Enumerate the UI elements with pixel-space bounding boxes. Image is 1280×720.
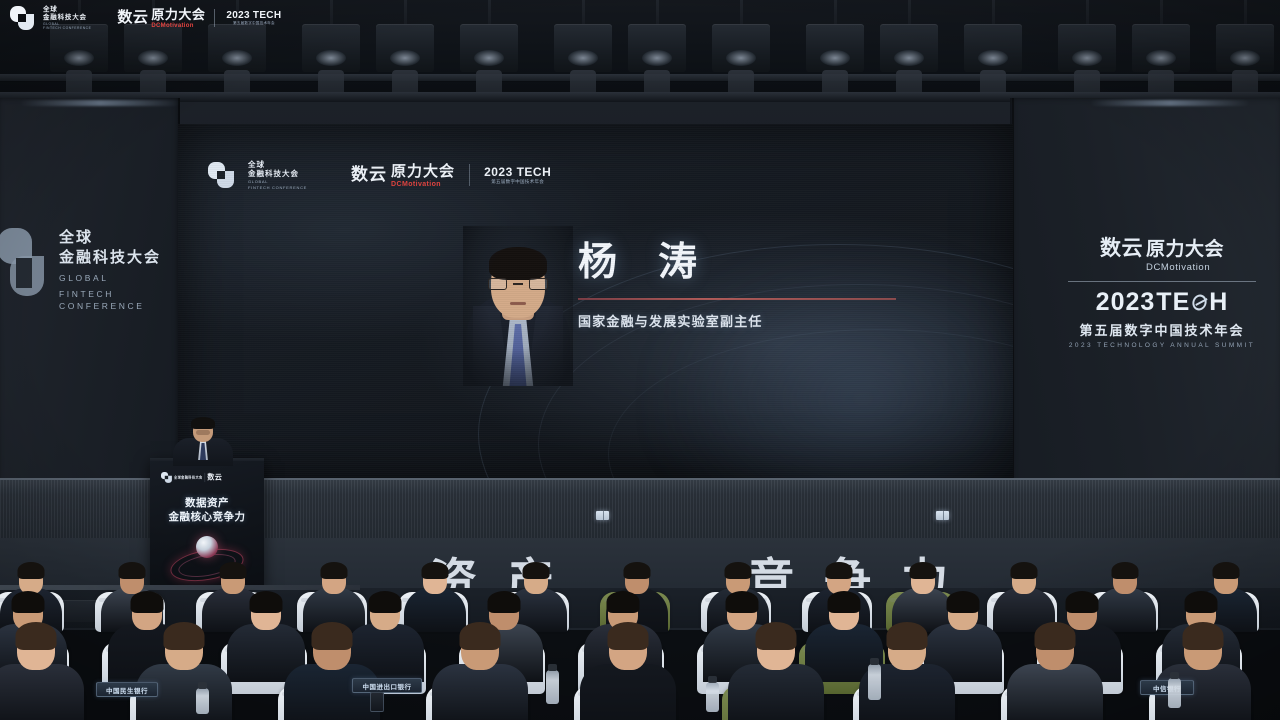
broadcast-fintech-wordmark: 全球 金融科技大会 GLOBAL FINTECH CONFERENCE bbox=[43, 6, 91, 31]
podium-fintech-label: 全球金融科技大会 bbox=[174, 476, 203, 480]
wall-sign-left-cn-2: 金融科技大会 bbox=[59, 248, 170, 268]
audience-person-hair bbox=[369, 591, 402, 613]
wall-sign-left-en-2: FINTECH CONFERENCE bbox=[59, 288, 170, 312]
audience-person-hair bbox=[488, 591, 521, 613]
wall-light-band-left bbox=[20, 100, 180, 106]
audience-person-hair bbox=[321, 562, 348, 579]
screen-tech-badge-sub: 第五届数字中国技术年会 bbox=[484, 179, 551, 185]
water-bottle bbox=[868, 664, 881, 700]
audience-person-hair bbox=[16, 622, 57, 649]
audience-person-torso bbox=[728, 664, 824, 720]
audience-person bbox=[432, 626, 528, 720]
audience-person-hair bbox=[910, 562, 937, 579]
screen-fintech-en-2: FINTECH CONFERENCE bbox=[248, 185, 307, 190]
audience-person-torso bbox=[1007, 664, 1103, 720]
bottle-cap bbox=[708, 676, 717, 683]
audience-person-hair bbox=[18, 562, 45, 579]
broadcast-fintech-en-2: FINTECH CONFERENCE bbox=[43, 26, 91, 30]
water-bottle bbox=[196, 688, 209, 714]
speaker-portrait bbox=[463, 226, 573, 386]
stage-light-glow bbox=[1230, 50, 1260, 66]
podium-title: 数据资产 金融核心竞争力 bbox=[150, 496, 264, 524]
audience-name-card: 中信银行 bbox=[1140, 680, 1194, 695]
skirt-vent-right bbox=[936, 511, 949, 520]
stage-light-glow bbox=[894, 50, 924, 66]
speaker-name-block: 杨 涛 国家金融与发展实验室副主任 bbox=[578, 240, 908, 330]
bottle-cap bbox=[1170, 672, 1179, 679]
wall-sign-right-title-row: 数云 原力大会 DCMotivation bbox=[1062, 232, 1262, 273]
audience-person-hair bbox=[826, 562, 853, 579]
audience-person-hair bbox=[1213, 562, 1240, 579]
water-bottle bbox=[546, 670, 559, 704]
bottle-cap bbox=[548, 664, 557, 671]
audience-person-hair bbox=[119, 562, 146, 579]
audience-person-hair bbox=[460, 622, 501, 649]
audience-person-hair bbox=[756, 622, 797, 649]
screen-tech-badge-main: 2023 TECH bbox=[484, 166, 551, 179]
broadcast-yuanli-cn: 原力大会 bbox=[151, 7, 205, 23]
stage-light-glow bbox=[820, 50, 850, 66]
audience-person-hair bbox=[250, 591, 283, 613]
stage-light-glow bbox=[474, 50, 504, 66]
screen-tech-badge: 2023 TECH 第五届数字中国技术年会 bbox=[484, 166, 551, 185]
podium-shuyun-label: 数云 bbox=[207, 474, 222, 482]
wall-sign-left: 全球 金融科技大会 GLOBAL FINTECH CONFERENCE bbox=[10, 228, 170, 312]
stage-light-glow bbox=[1072, 50, 1102, 66]
broadcast-logo-divider bbox=[214, 9, 215, 27]
wall-sign-right-shuyun: 数云 bbox=[1100, 232, 1143, 262]
broadcast-logo-overlay: 全球 金融科技大会 GLOBAL FINTECH CONFERENCE 数云 原… bbox=[10, 6, 281, 31]
screen-fintech-en-1: GLOBAL bbox=[248, 179, 307, 184]
stage-light-glow bbox=[316, 50, 346, 66]
audience-person bbox=[728, 626, 824, 720]
speaker-title: 国家金融与发展实验室副主任 bbox=[578, 311, 908, 330]
broadcast-year-badge: 2023 TECH 第五届数字中国技术年会 bbox=[224, 10, 281, 26]
audience-person-hair bbox=[164, 622, 205, 649]
screen-logo-divider bbox=[469, 164, 470, 186]
audience-phone bbox=[370, 692, 384, 712]
audience-person-torso bbox=[0, 664, 84, 720]
fintech-logo-icon bbox=[208, 162, 234, 188]
audience-person-hair bbox=[131, 591, 164, 613]
skirt-vent-center bbox=[596, 511, 609, 520]
audience-person-hair bbox=[1185, 591, 1218, 613]
audience-person-torso bbox=[580, 664, 676, 720]
screen-dcmotivation: DCMotivation bbox=[391, 181, 455, 188]
tech-c-ring-icon bbox=[1191, 292, 1209, 313]
wall-sign-right-cn-subtitle: 第五届数字中国技术年会 bbox=[1062, 320, 1262, 339]
stage-light-glow bbox=[978, 50, 1008, 66]
audience-name-card: 中国进出口银行 bbox=[352, 678, 422, 693]
screen-shuyun-wordmark: 数云 原力大会 DCMotivation bbox=[351, 163, 455, 188]
screen-shuyun-cn: 数云 bbox=[351, 166, 387, 184]
audience-area: 中国民生银行中国进出口银行中信银行 bbox=[0, 560, 1280, 720]
audience-person bbox=[284, 626, 380, 720]
stage-light-glow bbox=[642, 50, 672, 66]
wall-sign-right-yuanli: 原力大会 bbox=[1146, 239, 1224, 260]
led-display-screen: 全球 金融科技大会 GLOBAL FINTECH CONFERENCE 数云 原… bbox=[178, 124, 1013, 479]
broadcast-shuyun-cn: 数云 bbox=[117, 10, 148, 26]
broadcast-fintech-cn-1: 全球 bbox=[43, 6, 91, 14]
wall-light-band-right bbox=[1090, 100, 1250, 106]
podium-logo-row: 全球金融科技大会 数云 bbox=[161, 472, 222, 483]
screen-fintech-cn-1: 全球 bbox=[248, 160, 307, 169]
audience-person-hair bbox=[828, 591, 861, 613]
bottle-cap bbox=[198, 682, 207, 689]
stage-scene: 全球 金融科技大会 GLOBAL FINTECH CONFERENCE 数云 原… bbox=[0, 0, 1280, 720]
podium-title-line-2: 金融核心竞争力 bbox=[150, 510, 264, 524]
audience-person-hair bbox=[726, 591, 759, 613]
audience-person-hair bbox=[624, 562, 651, 579]
audience-person-hair bbox=[887, 622, 928, 649]
audience-person-hair bbox=[422, 562, 449, 579]
bottle-cap bbox=[870, 658, 879, 665]
wall-sign-right-en-subtitle: 2023 TECHNOLOGY ANNUAL SUMMIT bbox=[1062, 342, 1262, 349]
audience-person-hair bbox=[12, 591, 45, 613]
water-bottle bbox=[1168, 678, 1181, 708]
stage-light-glow bbox=[1146, 50, 1176, 66]
podium-title-line-1: 数据资产 bbox=[150, 496, 264, 510]
audience-person bbox=[580, 626, 676, 720]
broadcast-shuyun-wordmark: 数云 原力大会 DCMotivation bbox=[117, 7, 205, 29]
audience-person-hair bbox=[725, 562, 752, 579]
audience-person-hair bbox=[1011, 562, 1038, 579]
wall-sign-right-tech-a: TE bbox=[1156, 289, 1190, 316]
audience-name-card-label: 中国进出口银行 bbox=[363, 681, 412, 691]
audience-person-hair bbox=[220, 562, 247, 579]
wall-sign-left-cn-1: 全球 bbox=[59, 228, 170, 248]
screen-logo-row: 全球 金融科技大会 GLOBAL FINTECH CONFERENCE 数云 原… bbox=[208, 160, 551, 190]
broadcast-year-badge-main: 2023 TECH bbox=[226, 10, 281, 21]
wall-sign-right: 数云 原力大会 DCMotivation 2023 TE H 第五届数字中国技术… bbox=[1062, 232, 1262, 349]
screen-yuanli-cn: 原力大会 bbox=[391, 163, 455, 181]
wall-sign-right-divider bbox=[1068, 281, 1256, 282]
audience-name-card: 中国民生银行 bbox=[96, 682, 158, 697]
broadcast-fintech-logo-icon bbox=[10, 6, 34, 30]
speaker-name-divider bbox=[578, 298, 896, 300]
audience-person-hair bbox=[1112, 562, 1139, 579]
audience-person bbox=[1007, 626, 1103, 720]
audience-person bbox=[136, 626, 232, 720]
screen-fintech-cn-2: 金融科技大会 bbox=[248, 169, 307, 178]
wall-sign-right-tech-row: 2023 TE H bbox=[1062, 289, 1262, 316]
stage-light-glow bbox=[64, 50, 94, 66]
audience-person-hair bbox=[1035, 622, 1076, 649]
audience-person-hair bbox=[1066, 591, 1099, 613]
wall-sign-right-year: 2023 bbox=[1096, 289, 1156, 316]
stage-light-glow bbox=[138, 50, 168, 66]
audience-name-card-label: 中国民生银行 bbox=[106, 685, 148, 695]
wall-sign-right-dcm: DCMotivation bbox=[1146, 262, 1224, 273]
audience-person-hair bbox=[523, 562, 550, 579]
audience-person-hair bbox=[1183, 622, 1224, 649]
water-bottle bbox=[706, 682, 719, 712]
stage-light-glow bbox=[222, 50, 252, 66]
stage-light-glow bbox=[390, 50, 420, 66]
audience-person-hair bbox=[947, 591, 980, 613]
wall-sign-left-en-1: GLOBAL bbox=[59, 272, 170, 284]
stage-light-glow bbox=[726, 50, 756, 66]
wall-sign-right-tech-b: H bbox=[1209, 289, 1228, 316]
broadcast-year-badge-sub: 第五届数字中国技术年会 bbox=[226, 21, 281, 26]
audience-person-torso bbox=[432, 664, 528, 720]
broadcast-fintech-cn-2: 金融科技大会 bbox=[43, 14, 91, 22]
audience-person-hair bbox=[607, 591, 640, 613]
audience-person-hair bbox=[608, 622, 649, 649]
broadcast-dcmotivation: DCMotivation bbox=[151, 23, 205, 29]
audience-person bbox=[0, 626, 84, 720]
audience-person-hair bbox=[312, 622, 353, 649]
fintech-wall-logo-icon bbox=[10, 228, 50, 302]
podium-fintech-logo-icon bbox=[161, 472, 172, 483]
speaker-name: 杨 涛 bbox=[578, 240, 908, 285]
stage-light-glow bbox=[568, 50, 598, 66]
screen-fintech-wordmark: 全球 金融科技大会 GLOBAL FINTECH CONFERENCE bbox=[248, 160, 307, 190]
